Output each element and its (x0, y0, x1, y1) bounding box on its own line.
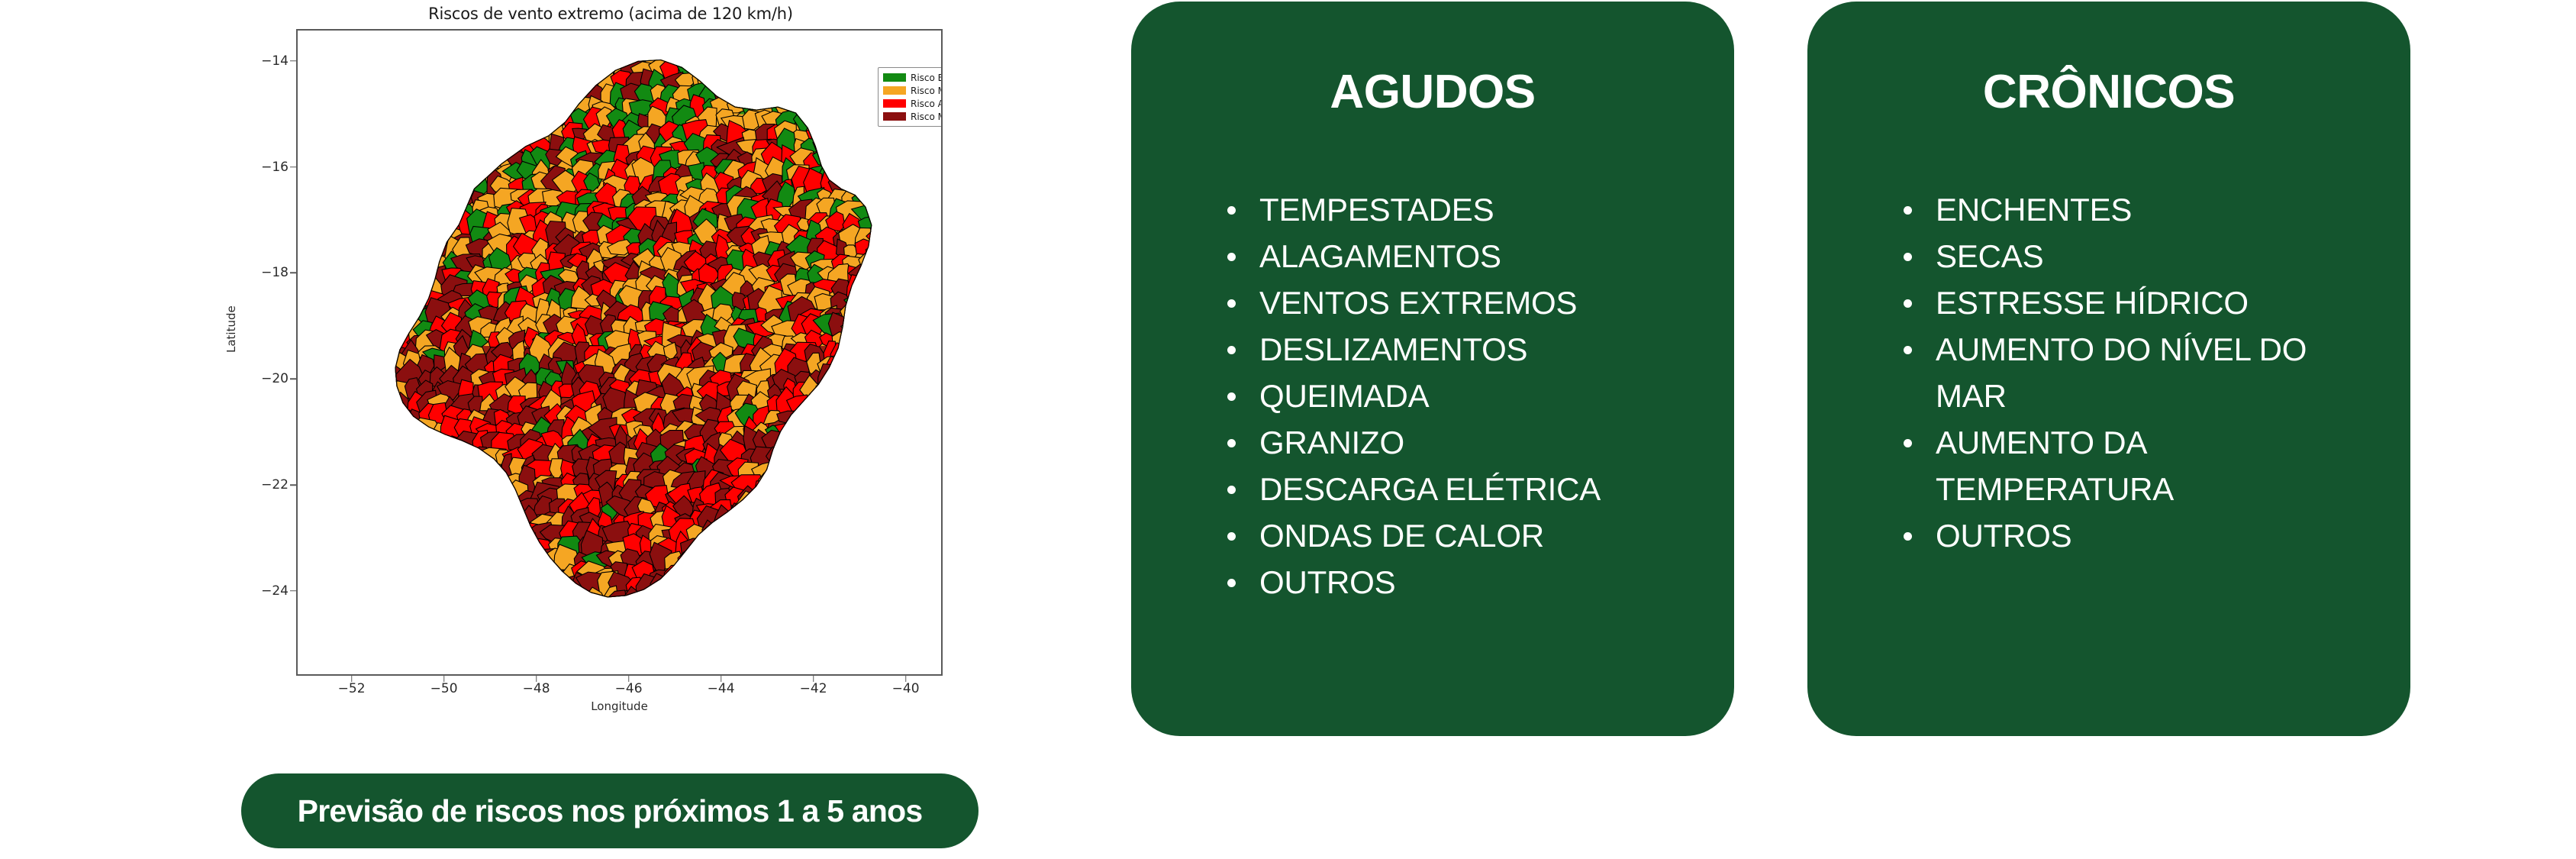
bullet-icon (1227, 579, 1236, 587)
x-tick-mark (905, 676, 907, 682)
bullet-icon (1227, 253, 1236, 261)
risk-list-item-label: ENCHENTES (1936, 192, 2132, 228)
x-tick-mark (536, 676, 537, 682)
risk-list-item-label: TEMPESTADES (1259, 192, 1494, 228)
risk-list-item-label: DESLIZAMENTOS (1259, 331, 1527, 367)
risk-list-agudos: TEMPESTADESALAGAMENTOSVENTOS EXTREMOSDES… (1131, 186, 1734, 605)
legend-swatch-icon (883, 112, 906, 121)
map-plot-area: Risco BaixoRisco MédioRisco AltoRisco Mu… (296, 29, 943, 676)
legend-label: Risco Alto (911, 99, 943, 108)
y-tick-mark (290, 590, 296, 592)
risk-list-item-label: GRANIZO (1259, 425, 1404, 460)
x-tick-label: −46 (615, 681, 643, 696)
legend-item: Risco Médio (883, 85, 943, 96)
x-tick-label: −52 (338, 681, 366, 696)
y-tick-mark (290, 484, 296, 486)
bullet-icon (1904, 253, 1912, 261)
legend-label: Risco Médio (911, 86, 943, 95)
risk-list-item: ESTRESSE HÍDRICO (1899, 279, 2365, 326)
risk-list-item: DESLIZAMENTOS (1223, 326, 1688, 373)
risk-list-item-label: DESCARGA ELÉTRICA (1259, 471, 1601, 507)
legend-swatch-icon (883, 73, 906, 82)
x-tick-mark (351, 676, 353, 682)
legend-item: Risco Baixo (883, 72, 943, 83)
card-title-agudos: AGUDOS (1131, 2, 1734, 116)
bullet-icon (1227, 346, 1236, 354)
risk-list-item-label: QUEIMADA (1259, 378, 1429, 414)
bullet-icon (1904, 206, 1912, 215)
bullet-icon (1227, 206, 1236, 215)
risk-map-panel: Riscos de vento extremo (acima de 120 km… (229, 0, 992, 733)
x-tick-mark (813, 676, 814, 682)
y-tick-label: −20 (261, 371, 289, 386)
x-tick-label: −50 (430, 681, 458, 696)
risk-list-item-label: ESTRESSE HÍDRICO (1936, 285, 2249, 321)
y-tick-mark (290, 378, 296, 379)
y-tick-mark (290, 60, 296, 62)
bullet-icon (1904, 532, 1912, 541)
legend-swatch-icon (883, 86, 906, 95)
risk-list-item-label: SECAS (1936, 238, 2043, 274)
choropleth-map (298, 31, 941, 674)
risk-card-cronicos: CRÔNICOS ENCHENTESSECASESTRESSE HÍDRICOA… (1807, 2, 2410, 736)
risk-list-item-label: OUTROS (1259, 564, 1395, 600)
risk-list-item: OUTROS (1223, 559, 1688, 605)
x-tick-mark (443, 676, 445, 682)
risk-list-item: AUMENTO DA TEMPERATURA (1899, 419, 2365, 512)
legend-swatch-icon (883, 99, 906, 108)
x-axis-label: Longitude (296, 699, 943, 713)
map-legend: Risco BaixoRisco MédioRisco AltoRisco Mu… (878, 67, 943, 127)
y-tick-label: −14 (261, 53, 289, 69)
legend-label: Risco Muito Alto (911, 112, 943, 121)
risk-list-item-label: AUMENTO DO NÍVEL DO MAR (1936, 331, 2307, 414)
risk-list-item: ALAGAMENTOS (1223, 233, 1688, 279)
risk-list-item-label: AUMENTO DA TEMPERATURA (1936, 425, 2174, 507)
bullet-icon (1904, 346, 1912, 354)
risk-list-item: DESCARGA ELÉTRICA (1223, 466, 1688, 512)
risk-list-item-label: OUTROS (1936, 518, 2071, 554)
x-tick-mark (721, 676, 722, 682)
y-tick-mark (290, 166, 296, 168)
x-tick-label: −44 (708, 681, 735, 696)
risk-list-item-label: VENTOS EXTREMOS (1259, 285, 1577, 321)
risk-list-item: AUMENTO DO NÍVEL DO MAR (1899, 326, 2365, 419)
x-tick-mark (628, 676, 630, 682)
legend-item: Risco Alto (883, 98, 943, 109)
y-tick-label: −18 (261, 265, 289, 280)
bullet-icon (1227, 439, 1236, 447)
legend-item: Risco Muito Alto (883, 111, 943, 122)
chart-title: Riscos de vento extremo (acima de 120 km… (229, 5, 992, 23)
y-tick-label: −24 (261, 583, 289, 599)
bullet-icon (1227, 532, 1236, 541)
y-tick-label: −22 (261, 477, 289, 492)
x-tick-label: −40 (892, 681, 920, 696)
risk-list-item: OUTROS (1899, 512, 2365, 559)
y-axis-label: Latitude (224, 305, 238, 353)
bullet-icon (1904, 439, 1912, 447)
y-tick-mark (290, 273, 296, 274)
legend-label: Risco Baixo (911, 73, 943, 82)
risk-list-cronicos: ENCHENTESSECASESTRESSE HÍDRICOAUMENTO DO… (1807, 186, 2410, 559)
bullet-icon (1904, 299, 1912, 308)
risk-list-item: GRANIZO (1223, 419, 1688, 466)
x-tick-label: −42 (800, 681, 827, 696)
risk-list-item: ENCHENTES (1899, 186, 2365, 233)
risk-list-item: QUEIMADA (1223, 373, 1688, 419)
risk-list-item: ONDAS DE CALOR (1223, 512, 1688, 559)
card-title-cronicos: CRÔNICOS (1807, 2, 2410, 116)
bullet-icon (1227, 486, 1236, 494)
y-tick-label: −16 (261, 160, 289, 175)
risk-list-item-label: ONDAS DE CALOR (1259, 518, 1544, 554)
bullet-icon (1227, 299, 1236, 308)
risk-card-agudos: AGUDOS TEMPESTADESALAGAMENTOSVENTOS EXTR… (1131, 2, 1734, 736)
bullet-icon (1227, 392, 1236, 401)
forecast-button[interactable]: Previsão de riscos nos próximos 1 a 5 an… (241, 773, 978, 848)
x-tick-label: −48 (523, 681, 550, 696)
risk-list-item: VENTOS EXTREMOS (1223, 279, 1688, 326)
risk-list-item: TEMPESTADES (1223, 186, 1688, 233)
risk-list-item-label: ALAGAMENTOS (1259, 238, 1501, 274)
risk-list-item: SECAS (1899, 233, 2365, 279)
